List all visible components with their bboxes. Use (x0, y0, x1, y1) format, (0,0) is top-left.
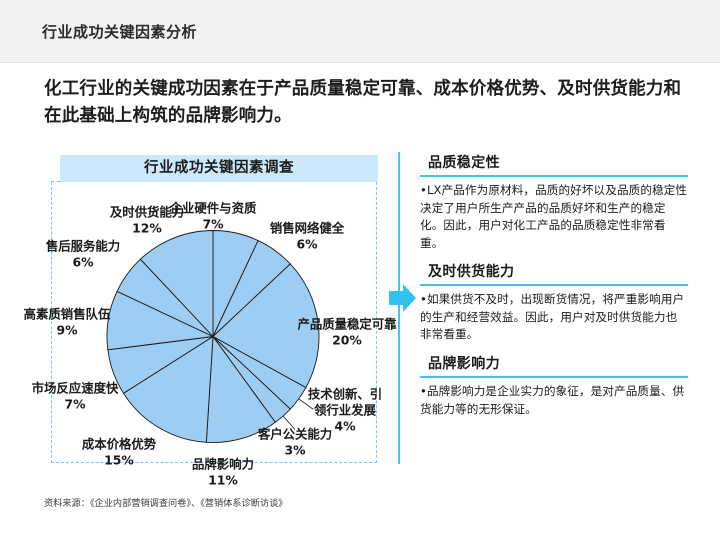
insight-block: 及时供货能力 •如果供货不及时，出现断货情况，将严重影响用户的生产和经营效益。因… (420, 261, 688, 344)
insights-panel: 品质稳定性 •LX产品作为原材料，品质的好坏以及品质的稳定性决定了用户所生产产品… (420, 152, 688, 427)
insight-body: •如果供货不及时，出现断货情况，将严重影响用户的生产和经营效益。因此，用户对及时… (420, 291, 688, 344)
insight-heading: 品牌影响力 (420, 353, 688, 373)
pie-chart: 企业硬件与资质7%销售网络健全6%产品质量稳定可靠20%技术创新、引领行业发展4… (51, 182, 377, 463)
insight-body: •品牌影响力是企业实力的象征，是对产品质量、供货能力等的无形保证。 (420, 383, 688, 418)
insight-heading: 及时供货能力 (420, 261, 688, 281)
pie-slice-label: 品牌影响力11% (192, 457, 254, 488)
pie-slice-label: 成本价格优势15% (82, 437, 157, 468)
right-arrow-icon (389, 283, 417, 313)
insight-rule (420, 376, 688, 378)
lead-statement: 化工行业的关键成功因素在于产品质量稳定可靠、成本价格优势、及时供货能力和在此基础… (44, 76, 684, 130)
pie-slice-label: 高素质销售队伍9% (24, 307, 111, 338)
pie-slice-label: 市场反应速度快7% (32, 381, 119, 412)
insight-heading: 品质稳定性 (420, 152, 688, 172)
pie-slice-label: 售后服务能力6% (46, 239, 120, 270)
page-title: 行业成功关键因素分析 (42, 21, 197, 42)
pie-slice-label: 及时供货能力12% (110, 205, 184, 236)
slide-header-bar: 行业成功关键因素分析 (0, 0, 720, 63)
pie-slice-group (107, 231, 319, 443)
insight-body: •LX产品作为原材料，品质的好坏以及品质的稳定性决定了用户所生产产品的品质好坏和… (420, 182, 688, 252)
chart-title-bar: 行业成功关键因素调查 (60, 155, 378, 182)
insight-block: 品质稳定性 •LX产品作为原材料，品质的好坏以及品质的稳定性决定了用户所生产产品… (420, 152, 688, 252)
pie-slice-label: 客户公关能力3% (257, 427, 332, 458)
pie-slice-label: 销售网络健全6% (270, 221, 345, 252)
chart-panel: 行业成功关键因素调查 企业硬件与资质7%销售网络健全6%产品质量稳定可靠20%技… (51, 155, 378, 464)
insight-block: 品牌影响力 •品牌影响力是企业实力的象征，是对产品质量、供货能力等的无形保证。 (420, 353, 688, 418)
insight-rule (420, 175, 688, 177)
slide-canvas: 行业成功关键因素分析 化工行业的关键成功因素在于产品质量稳定可靠、成本价格优势、… (0, 0, 720, 540)
chart-title: 行业成功关键因素调查 (60, 155, 378, 182)
insight-rule (420, 284, 688, 286)
source-note: 资料来源：《企业内部营销调查问卷》、《营销体系诊断访谈》 (44, 495, 287, 509)
